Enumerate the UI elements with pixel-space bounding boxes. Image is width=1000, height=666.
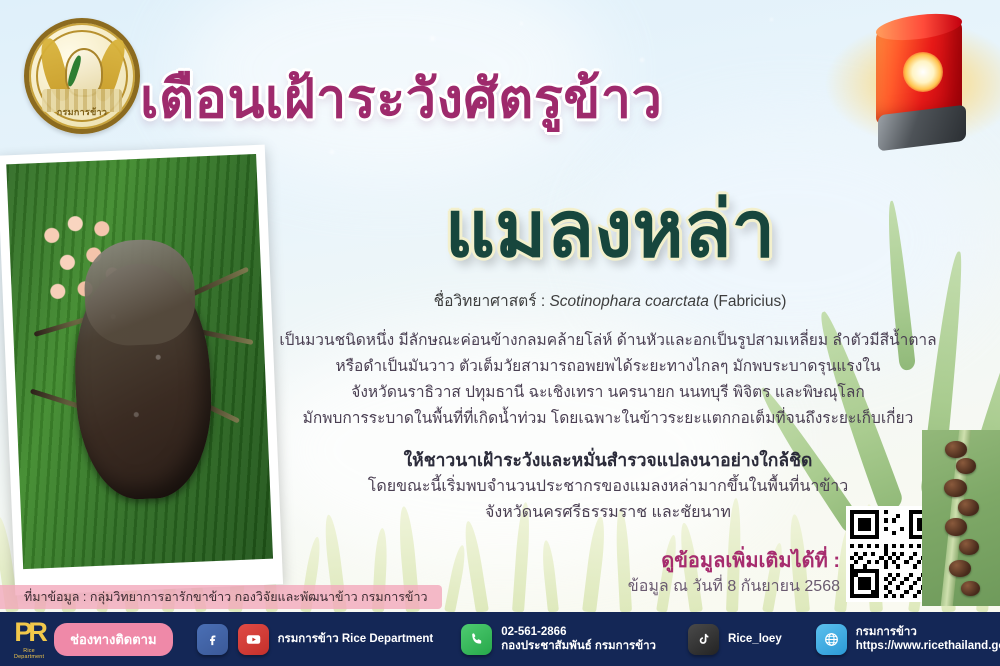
footer-item-phone[interactable]: 02-561-2866 กองประชาสัมพันธ์ กรมการข้าว <box>451 612 656 666</box>
pest-name-heading: แมลงหล่า <box>300 190 920 268</box>
footer-label-website: กรมการข้าว https://www.ricethailand.go.t… <box>856 625 1000 653</box>
footer-website-url: https://www.ricethailand.go.th/ <box>856 639 1000 653</box>
page-title: เตือนเฝ้าระวังศัตรูข้าว <box>140 72 870 126</box>
siren-lamp-hotspot <box>903 52 943 92</box>
footer-item-facebook[interactable] <box>187 612 228 666</box>
rice-department-seal-logo: กรมการข้าว <box>24 18 140 134</box>
stalk-bug <box>944 479 967 497</box>
sparkle-5 <box>330 150 334 154</box>
footer-item-tiktok[interactable]: Rice_loey <box>678 612 782 666</box>
footer-label-tiktok: Rice_loey <box>728 632 782 646</box>
facebook-icon[interactable] <box>197 624 228 655</box>
stalk-bug <box>945 441 967 458</box>
pr-logo: PR Rice Department <box>14 612 44 666</box>
sparkle-3 <box>640 58 644 62</box>
insect-photo-image <box>6 154 273 569</box>
follow-channels-pill[interactable]: ช่องทางติดตาม <box>54 623 172 656</box>
cta-headline: ให้ชาวนาเฝ้าระวังและหมั่นสำรวจแปลงนาอย่า… <box>278 446 938 474</box>
call-to-action-block: ให้ชาวนาเฝ้าระวังและหมั่นสำรวจแปลงนาอย่า… <box>278 446 938 526</box>
poster-canvas: กรมการข้าว เตือนเฝ้าระวังศัตรูข้าว แมลงห… <box>0 0 1000 666</box>
footer-phone-office: กองประชาสัมพันธ์ กรมการข้าว <box>501 639 656 653</box>
grass-blade <box>541 540 559 612</box>
grass-blade <box>462 520 489 612</box>
scientific-name-label: ชื่อวิทยาศาสตร์ : <box>434 293 546 310</box>
source-credit-text: ที่มาข้อมูล : กลุ่มวิทยาการอารักขาข้าว ก… <box>24 587 428 607</box>
stalk-bug <box>956 458 976 474</box>
tiktok-icon[interactable] <box>688 624 719 655</box>
sparkle-2 <box>520 22 523 25</box>
footer-bar: PR Rice Department ช่องทางติดตาม กรมการข… <box>0 612 1000 666</box>
insect-pronotum <box>82 238 196 348</box>
description-line: มักพบการระบาดในพื้นที่ที่เกิดน้ำท่วม โดย… <box>278 406 938 432</box>
seal-label: กรมการข้าว <box>29 105 135 119</box>
footer-website-owner: กรมการข้าว <box>856 625 1000 639</box>
stalk-bug <box>945 518 967 536</box>
description-line: จังหวัดนราธิวาส ปทุมธานี ฉะเชิงเทรา นครน… <box>278 380 938 406</box>
data-as-of-date: ข้อมูล ณ วันที่ 8 กันยายน 2568 <box>560 574 840 600</box>
scientific-name-binomial: Scotinophara coarctata <box>549 293 708 310</box>
cta-sub-line: จังหวัดนครศรีธรรมราช และชัยนาท <box>278 500 938 526</box>
footer-label-facebook-youtube: กรมการข้าว Rice Department <box>278 632 434 646</box>
sparkle-4 <box>770 18 773 21</box>
scientific-name-line: ชื่อวิทยาศาสตร์ : Scotinophara coarctata… <box>300 288 920 313</box>
youtube-icon[interactable] <box>238 624 269 655</box>
phone-icon[interactable] <box>461 624 492 655</box>
footer-item-website[interactable]: กรมการข้าว https://www.ricethailand.go.t… <box>806 612 1000 666</box>
cta-sub-line: โดยขณะนี้เริ่มพบจำนวนประชากรของแมลงหล่าม… <box>278 474 938 500</box>
infested-rice-stalk-photo <box>922 430 1000 606</box>
description-paragraph: เป็นมวนชนิดหนึ่ง มีลักษณะค่อนข้างกลมคล้า… <box>278 328 938 432</box>
globe-icon[interactable] <box>816 624 847 655</box>
description-line: เป็นมวนชนิดหนึ่ง มีลักษณะค่อนข้างกลมคล้า… <box>278 328 938 354</box>
more-info-block: ดูข้อมูลเพิ่มเติมได้ที่ : ข้อมูล ณ วันที… <box>560 548 840 600</box>
footer-item-youtube[interactable]: กรมการข้าว Rice Department <box>228 612 434 666</box>
stalk-bug <box>958 499 979 516</box>
footer-phone-number: 02-561-2866 <box>501 625 656 639</box>
stalk-bug <box>949 560 971 577</box>
pr-logo-mark: PR <box>14 619 44 646</box>
more-info-heading: ดูข้อมูลเพิ่มเติมได้ที่ : <box>560 548 840 574</box>
footer-label-phone: 02-561-2866 กองประชาสัมพันธ์ กรมการข้าว <box>501 625 656 653</box>
grass-blade <box>444 544 468 612</box>
sparkle-1 <box>430 36 435 41</box>
description-line: หรือดำเป็นมันวาว ตัวเต็มวัยสามารถอพยพได้… <box>278 354 938 380</box>
source-credit-band: ที่มาข้อมูล : กลุ่มวิทยาการอารักขาข้าว ก… <box>0 585 442 609</box>
stalk-bug <box>961 581 980 596</box>
pr-logo-caption: Rice Department <box>14 648 44 660</box>
siren-beacon-icon <box>858 18 978 158</box>
scientific-name-author: (Fabricius) <box>713 293 786 310</box>
insect-photo <box>0 145 283 596</box>
stalk-bug <box>959 539 979 555</box>
